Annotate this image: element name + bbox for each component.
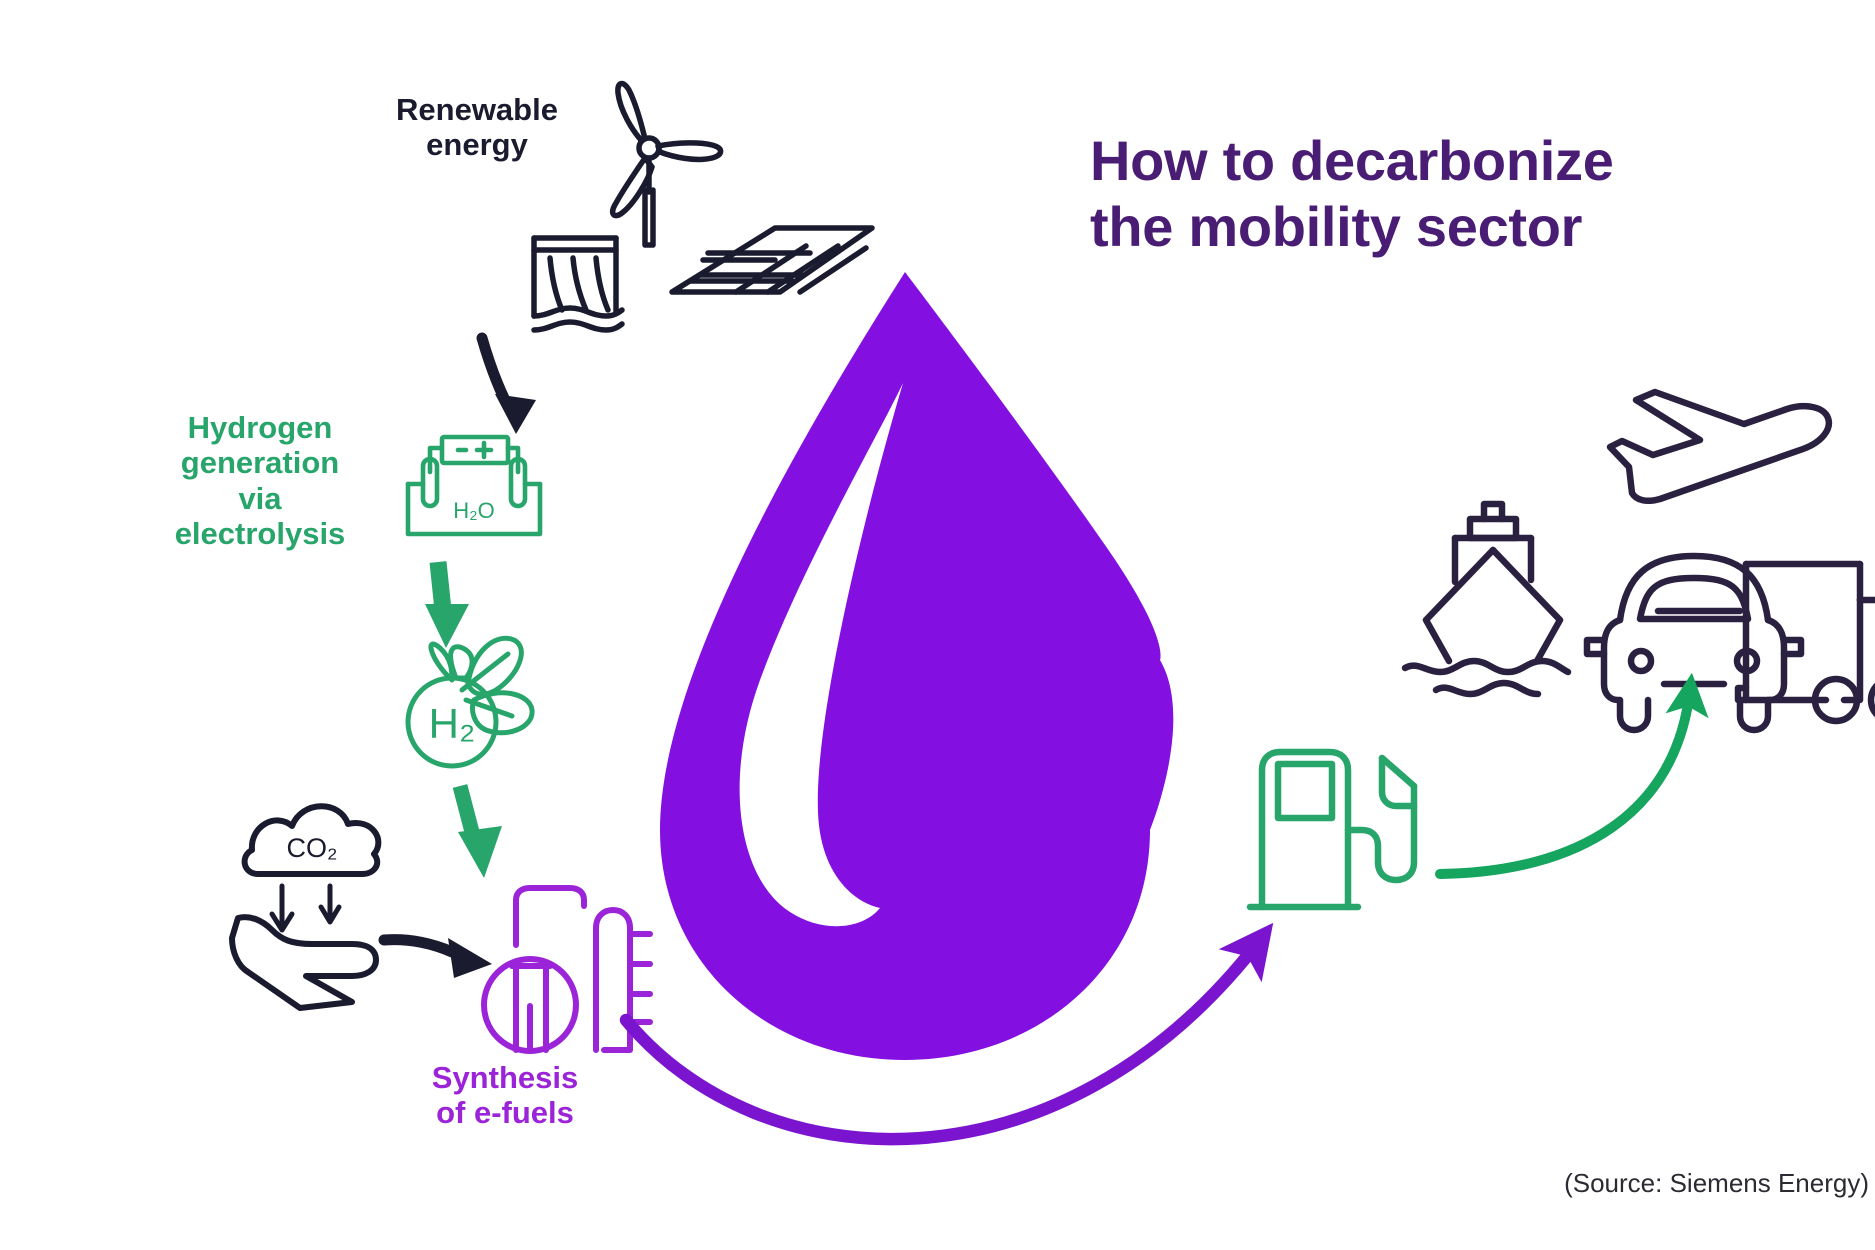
electrolyzer-icon: H₂O bbox=[408, 437, 540, 534]
infographic-canvas: H₂O H₂ CO₂ bbox=[0, 0, 1875, 1250]
hydrogen-h2-label: H₂ bbox=[429, 700, 476, 747]
fuel-pump-icon bbox=[1250, 752, 1414, 907]
page-title: How to decarbonize the mobility sector bbox=[1090, 128, 1614, 260]
airplane-icon bbox=[1610, 392, 1829, 501]
wind-turbine-icon bbox=[613, 84, 721, 245]
hydro-dam-icon bbox=[534, 238, 622, 330]
arrow-co2-to-synthesis bbox=[384, 938, 492, 978]
car-icon bbox=[1587, 556, 1801, 730]
hydrogen-leaf-icon: H₂ bbox=[408, 638, 532, 766]
arrow-fuelpump-to-mobility bbox=[1440, 690, 1690, 874]
arrow-renewable-to-electrolysis bbox=[482, 338, 536, 434]
electrolyzer-h2o-label: H₂O bbox=[453, 498, 495, 523]
arrow-electrolysis-to-hydrogen bbox=[425, 562, 469, 648]
stage-label-renewable-energy: Renewable energy bbox=[362, 92, 592, 163]
e-fuel-droplet bbox=[660, 272, 1173, 1060]
stage-label-synthesis-of-efuels: Synthesis of e-fuels bbox=[395, 1060, 615, 1131]
arrow-hydrogen-to-synthesis bbox=[458, 786, 502, 878]
source-attribution: (Source: Siemens Energy) bbox=[1564, 1168, 1869, 1199]
co2-capture-icon: CO₂ bbox=[232, 806, 378, 1008]
stage-label-hydrogen-generation: Hydrogen generation via electrolysis bbox=[150, 410, 370, 551]
solar-panel-icon bbox=[672, 228, 872, 292]
ship-icon bbox=[1405, 504, 1568, 694]
co2-cloud-label: CO₂ bbox=[287, 833, 338, 863]
